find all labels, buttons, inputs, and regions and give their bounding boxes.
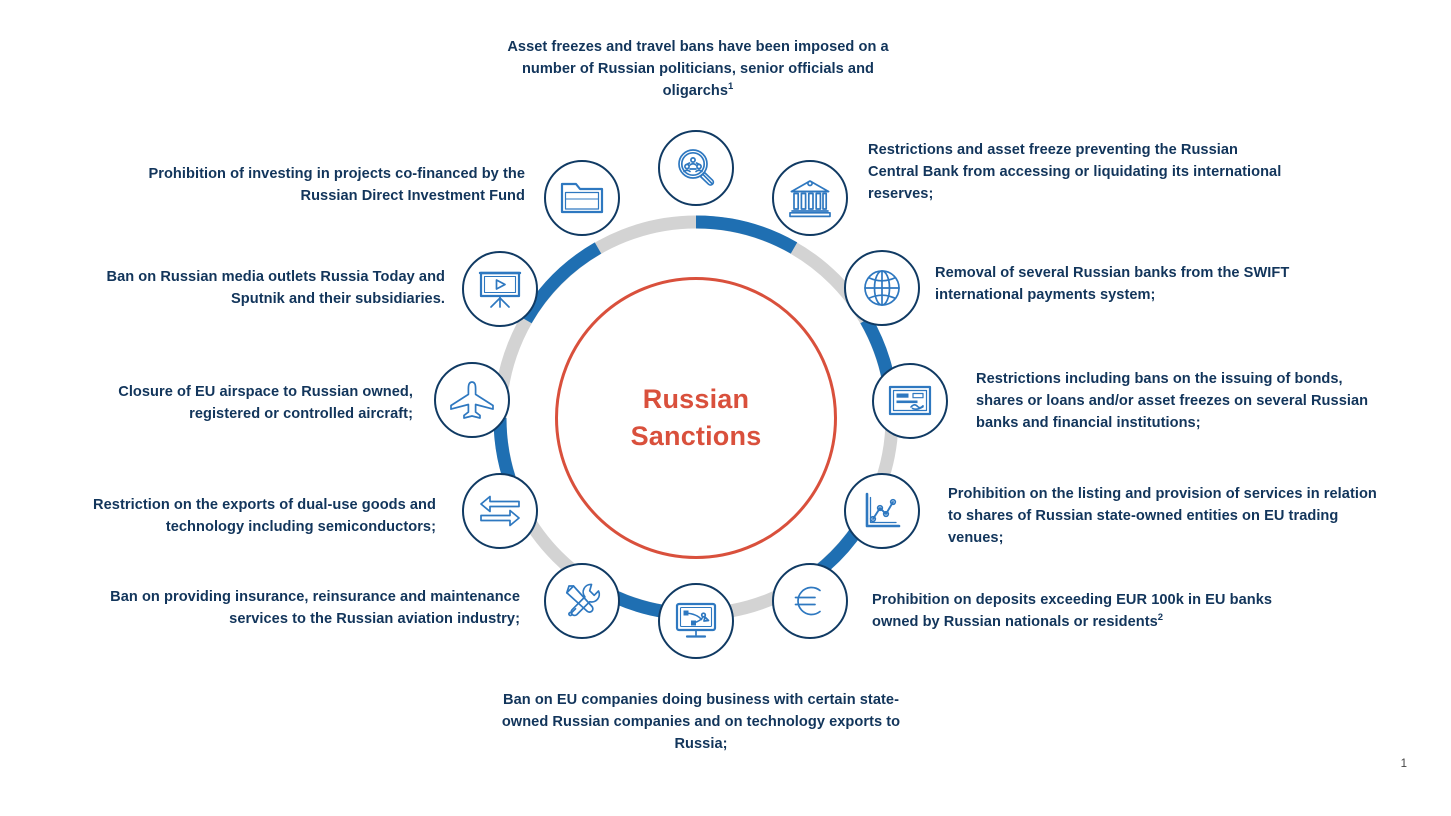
label-bonds-shares-text: Restrictions including bans on the issui… — [976, 371, 1368, 431]
label-rdif: Prohibition of investing in projects co-… — [125, 163, 525, 207]
infographic-canvas: Russian Sanctions — [0, 0, 1451, 816]
node-central-bank[interactable] — [772, 160, 848, 236]
label-airspace-text: Closure of EU airspace to Russian owned,… — [118, 384, 413, 422]
globe-icon — [859, 265, 905, 311]
bank-building-icon — [787, 176, 833, 220]
label-dual-use-exports-text: Restriction on the exports of dual-use g… — [93, 497, 436, 535]
node-state-owned-business[interactable] — [658, 583, 734, 659]
node-swift[interactable] — [844, 250, 920, 326]
label-swift-text: Removal of several Russian banks from th… — [935, 265, 1289, 303]
label-media-ban-text: Ban on Russian media outlets Russia Toda… — [106, 269, 445, 307]
media-screen-icon — [477, 268, 523, 310]
node-trading-venues[interactable] — [844, 473, 920, 549]
computer-tech-icon — [674, 601, 718, 641]
label-bonds-shares: Restrictions including bans on the issui… — [976, 368, 1394, 435]
exchange-arrows-icon — [477, 492, 523, 530]
label-deposits: Prohibition on deposits exceeding EUR 10… — [872, 589, 1312, 633]
label-state-owned-business: Ban on EU companies doing business with … — [496, 689, 906, 756]
label-deposits-footnote: 2 — [1158, 612, 1163, 623]
label-central-bank: Restrictions and asset freeze preventing… — [868, 139, 1288, 206]
node-dual-use-exports[interactable] — [462, 473, 538, 549]
center-title-line1: Russian — [643, 384, 749, 414]
label-oligarchs-footnote: 1 — [728, 81, 733, 92]
page-number: 1 — [1401, 758, 1407, 770]
label-central-bank-text: Restrictions and asset freeze preventing… — [868, 142, 1281, 202]
line-chart-icon — [860, 489, 904, 533]
label-swift: Removal of several Russian banks from th… — [935, 262, 1355, 306]
magnifier-people-icon — [673, 145, 719, 191]
center-circle: Russian Sanctions — [555, 277, 837, 559]
euro-icon — [788, 579, 832, 623]
label-deposits-text: Prohibition on deposits exceeding EUR 10… — [872, 592, 1272, 630]
center-title-line2: Sanctions — [631, 421, 762, 451]
airplane-icon — [448, 379, 496, 421]
label-airspace: Closure of EU airspace to Russian owned,… — [70, 381, 413, 425]
label-aviation-services: Ban on providing insurance, reinsurance … — [90, 586, 520, 630]
label-aviation-services-text: Ban on providing insurance, reinsurance … — [110, 589, 520, 627]
node-bonds-shares[interactable] — [872, 363, 948, 439]
label-trading-venues: Prohibition on the listing and provision… — [948, 483, 1378, 550]
label-trading-venues-text: Prohibition on the listing and provision… — [948, 486, 1377, 546]
label-state-owned-business-text: Ban on EU companies doing business with … — [502, 692, 900, 752]
node-oligarchs[interactable] — [658, 130, 734, 206]
label-oligarchs: Asset freezes and travel bans have been … — [493, 36, 903, 103]
node-aviation-services[interactable] — [544, 563, 620, 639]
node-rdif[interactable] — [544, 160, 620, 236]
label-media-ban: Ban on Russian media outlets Russia Toda… — [90, 266, 445, 310]
label-oligarchs-text: Asset freezes and travel bans have been … — [507, 39, 888, 99]
node-airspace[interactable] — [434, 362, 510, 438]
page-title: Russian Sanctions — [631, 381, 762, 456]
label-rdif-text: Prohibition of investing in projects co-… — [148, 166, 525, 204]
folder-icon — [559, 179, 605, 217]
node-media-ban[interactable] — [462, 251, 538, 327]
tools-icon — [560, 579, 604, 623]
label-dual-use-exports: Restriction on the exports of dual-use g… — [50, 494, 436, 538]
cheque-icon — [888, 383, 932, 419]
node-deposits[interactable] — [772, 563, 848, 639]
